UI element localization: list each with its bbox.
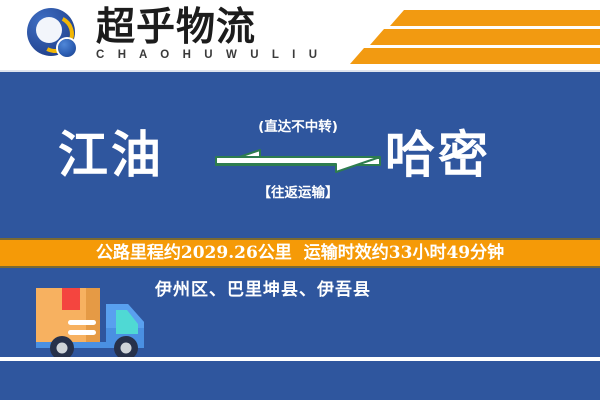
- road-line: [0, 357, 600, 361]
- delivery-truck-icon: [28, 276, 153, 366]
- stripe-3: [350, 48, 600, 64]
- brand-block: 超乎物流 C H A O H U W U L I U: [96, 7, 268, 62]
- round-trip-note: 【往返运输】: [212, 185, 384, 201]
- duration-label: 运输时效约33小时49分钟: [304, 243, 504, 263]
- route-info-bar: 公路里程约2029.26公里 运输时效约33小时49分钟: [0, 238, 600, 268]
- direct-route-note: (直达不中转): [212, 119, 384, 135]
- bidirectional-arrow-icon: [212, 144, 384, 178]
- route-middle: (直达不中转) 【往返运输】: [212, 72, 384, 238]
- banner-footer: 伊州区、巴里坤县、伊吾县: [0, 268, 600, 400]
- logistics-route-banner: 超乎物流 C H A O H U W U L I U 江油 (直达不中转) 【往…: [0, 0, 600, 400]
- stripe-1: [390, 10, 600, 26]
- destination-districts: 伊州区、巴里坤县、伊吾县: [155, 279, 371, 301]
- origin-city: 江油: [58, 127, 164, 183]
- distance-label: 公路里程约2029.26公里: [96, 243, 292, 263]
- brand-name-cn: 超乎物流: [96, 7, 268, 47]
- logo-dot-icon: [58, 39, 76, 57]
- destination-city: 哈密: [385, 127, 491, 183]
- route-section: 江油 (直达不中转) 【往返运输】 哈密: [0, 72, 600, 238]
- decorative-stripes: [330, 0, 600, 72]
- stripe-2: [370, 29, 600, 45]
- banner-header: 超乎物流 C H A O H U W U L I U: [0, 0, 600, 72]
- brand-name-en: C H A O H U W U L I U: [96, 49, 268, 62]
- chaohu-logo-icon: [27, 8, 83, 64]
